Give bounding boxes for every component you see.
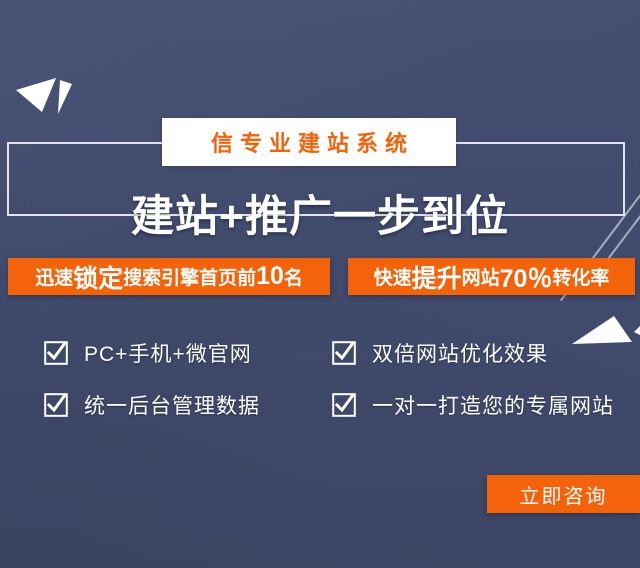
badge-segment: 网站 xyxy=(462,263,500,290)
badge-segment: 名 xyxy=(284,263,303,290)
feature-item-label: 双倍网站优化效果 xyxy=(372,338,548,368)
eyebrow-badge: 信专业建站系统 xyxy=(162,118,456,166)
feature-item-double-seo: 双倍网站优化效果 xyxy=(332,338,548,368)
feature-item-label: 一对一打造您的专属网站 xyxy=(372,390,614,420)
checkbox-checked-icon xyxy=(332,341,356,365)
consult-now-button[interactable]: 立即咨询 xyxy=(487,475,640,513)
feature-item-label: PC+手机+微官网 xyxy=(84,338,252,368)
badge-segment-emphasis: 10 xyxy=(256,262,284,291)
badge-segment-emphasis: 提升 xyxy=(412,259,462,295)
eyebrow-text: 信专业建站系统 xyxy=(204,126,414,158)
checkbox-checked-icon xyxy=(44,393,68,417)
feature-list: PC+手机+微官网 双倍网站优化效果 统一后台管理数据 一对一打造您的专属网站 xyxy=(0,330,640,430)
badge-segment: 转化率 xyxy=(552,263,609,290)
paper-plane-top-left-icon xyxy=(14,66,80,116)
highlight-badge-conversion: 快速 提升 网站 70％ 转化率 xyxy=(348,258,635,295)
feature-item-multi-platform: PC+手机+微官网 xyxy=(44,338,252,368)
feature-item-dedicated-site: 一对一打造您的专属网站 xyxy=(332,390,614,420)
promo-banner: 信专业建站系统 建站+推广一步到位 迅速 锁定 搜索引擎首页前 10 名 快速 … xyxy=(0,0,640,568)
checkbox-checked-icon xyxy=(332,393,356,417)
feature-item-unified-backend: 统一后台管理数据 xyxy=(44,390,260,420)
badge-segment-emphasis: 70％ xyxy=(500,259,553,295)
badge-segment: 快速 xyxy=(374,263,412,290)
badge-segment-emphasis: 锁定 xyxy=(73,259,123,295)
highlight-badge-ranking: 迅速 锁定 搜索引擎首页前 10 名 xyxy=(8,258,330,295)
badge-segment: 迅速 xyxy=(35,263,73,290)
feature-item-label: 统一后台管理数据 xyxy=(84,390,260,420)
checkbox-checked-icon xyxy=(44,341,68,365)
page-title: 建站+推广一步到位 xyxy=(0,182,640,244)
badge-segment: 搜索引擎首页前 xyxy=(123,263,256,290)
